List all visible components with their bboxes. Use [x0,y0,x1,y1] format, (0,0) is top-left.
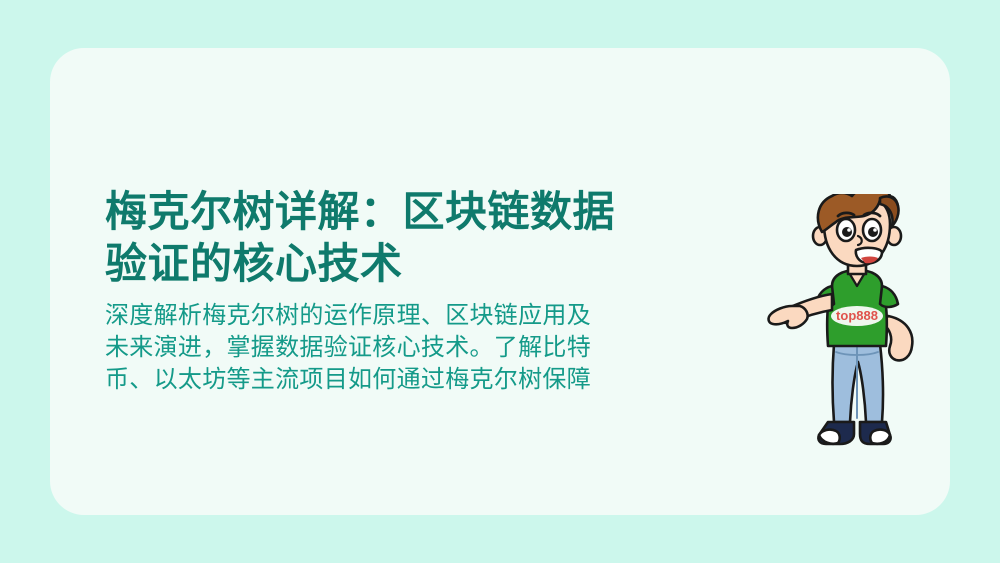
shirt-logo-text: top888 [836,308,878,323]
mascot-illustration: top888 [762,194,948,456]
slide-canvas: 梅克尔树详解：区块链数据验证的核心技术 深度解析梅克尔树的运作原理、区块链应用及… [0,0,1000,563]
pointing-boy-icon: top888 [762,194,948,456]
page-subtitle: 深度解析梅克尔树的运作原理、区块链应用及未来演进，掌握数据验证核心技术。了解比特… [105,300,615,396]
page-title: 梅克尔树详解：区块链数据验证的核心技术 [105,186,615,290]
text-block: 梅克尔树详解：区块链数据验证的核心技术 深度解析梅克尔树的运作原理、区块链应用及… [105,186,615,458]
content-card: 梅克尔树详解：区块链数据验证的核心技术 深度解析梅克尔树的运作原理、区块链应用及… [50,48,950,515]
